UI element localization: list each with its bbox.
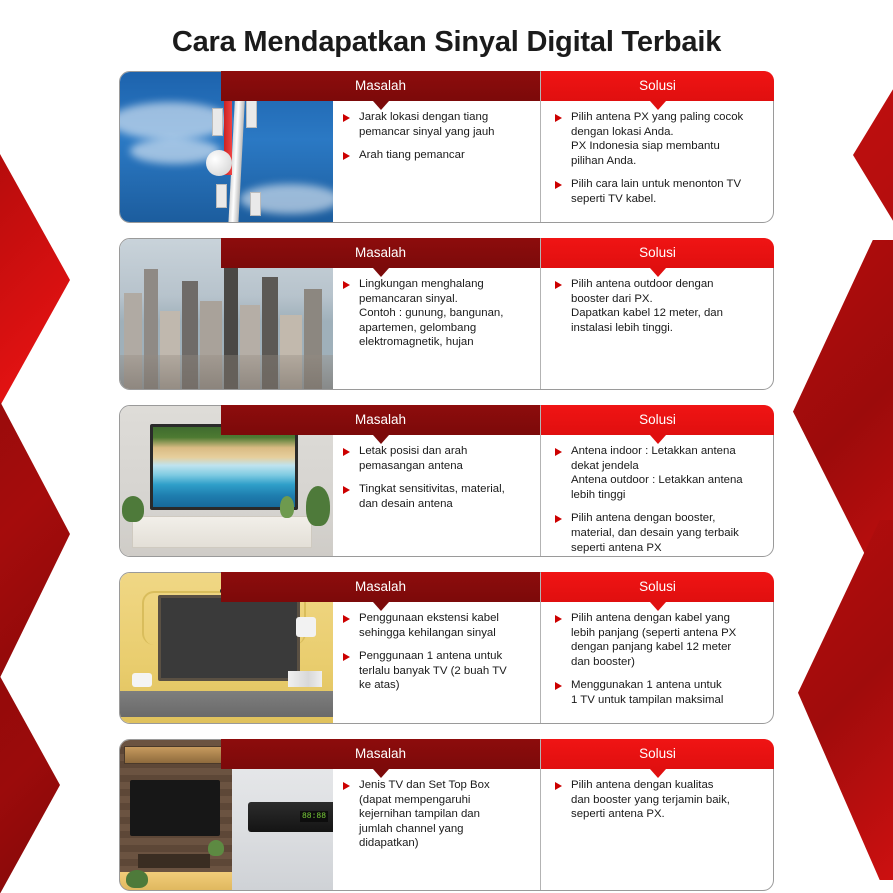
solution-column-1: Solusi Pilih antena PX yang paling cocok… bbox=[540, 72, 773, 222]
list-item: Pilih cara lain untuk menonton TV sepert… bbox=[555, 177, 763, 206]
chevron-right-2 bbox=[798, 520, 893, 880]
chevron-right-1 bbox=[793, 240, 893, 570]
problem-column-1: Masalah Jarak lokasi dengan tiang pemanc… bbox=[333, 72, 540, 222]
list-item: Jenis TV dan Set Top Box (dapat mempenga… bbox=[343, 778, 532, 851]
chevron-left-1 bbox=[0, 150, 70, 410]
problem-column-4: Masalah Penggunaan ekstensi kabel sehing… bbox=[333, 573, 540, 723]
problem-column-2: Masalah Lingkungan menghalang pemancaran… bbox=[333, 239, 540, 389]
solution-column-2: Solusi Pilih antena outdoor dengan boost… bbox=[540, 239, 773, 389]
info-card-row-1: Masalah Jarak lokasi dengan tiang pemanc… bbox=[119, 71, 774, 223]
list-item: Lingkungan menghalang pemancaran sinyal.… bbox=[343, 277, 532, 350]
problem-column-3: Masalah Letak posisi dan arah pemasangan… bbox=[333, 406, 540, 556]
solution-header-4: Solusi bbox=[541, 572, 774, 602]
list-item: Antena indoor : Letakkan antena dekat je… bbox=[555, 444, 763, 502]
info-card-row-4: Masalah Penggunaan ekstensi kabel sehing… bbox=[119, 572, 774, 724]
info-card-row-3: Masalah Letak posisi dan arah pemasangan… bbox=[119, 405, 774, 557]
problem-header-2: Masalah bbox=[221, 238, 540, 268]
stb-led-display: 88:88 bbox=[300, 811, 328, 822]
solution-header-2: Solusi bbox=[541, 238, 774, 268]
list-item: Arah tiang pemancar bbox=[343, 148, 532, 163]
info-card-row-2: Masalah Lingkungan menghalang pemancaran… bbox=[119, 238, 774, 390]
problem-header-1: Masalah bbox=[221, 71, 540, 101]
chevron-left-3 bbox=[0, 640, 60, 893]
solution-column-3: Solusi Antena indoor : Letakkan antena d… bbox=[540, 406, 773, 556]
chevron-left-2 bbox=[0, 390, 70, 690]
list-item: Pilih antena dengan booster, material, d… bbox=[555, 511, 763, 555]
solution-header-1: Solusi bbox=[541, 71, 774, 101]
solution-header-5: Solusi bbox=[541, 739, 774, 769]
list-item: Pilih antena dengan kabel yang lebih pan… bbox=[555, 611, 763, 669]
list-item: Penggunaan 1 antena untuk terlalu banyak… bbox=[343, 649, 532, 693]
list-item: Pilih antena PX yang paling cocok dengan… bbox=[555, 110, 763, 168]
problem-header-5: Masalah bbox=[221, 739, 540, 769]
solution-column-5: Solusi Pilih antena dengan kualitas dan … bbox=[540, 740, 773, 890]
problem-header-4: Masalah bbox=[221, 572, 540, 602]
list-item: Letak posisi dan arah pemasangan antena bbox=[343, 444, 532, 473]
info-card-row-5: 88:88 Masalah Jenis TV dan Set Top Box (… bbox=[119, 739, 774, 891]
list-item: Tingkat sensitivitas, material, dan desa… bbox=[343, 482, 532, 511]
solution-column-4: Solusi Pilih antena dengan kabel yang le… bbox=[540, 573, 773, 723]
card-list: Masalah Jarak lokasi dengan tiang pemanc… bbox=[119, 65, 774, 891]
list-item: Pilih antena dengan kualitas dan booster… bbox=[555, 778, 763, 822]
page-title: Cara Mendapatkan Sinyal Digital Terbaik bbox=[0, 0, 893, 65]
list-item: Menggunakan 1 antena untuk 1 TV untuk ta… bbox=[555, 678, 763, 707]
list-item: Pilih antena outdoor dengan booster dari… bbox=[555, 277, 763, 335]
list-item: Jarak lokasi dengan tiang pemancar sinya… bbox=[343, 110, 532, 139]
problem-header-3: Masalah bbox=[221, 405, 540, 435]
solution-header-3: Solusi bbox=[541, 405, 774, 435]
problem-column-5: Masalah Jenis TV dan Set Top Box (dapat … bbox=[333, 740, 540, 890]
list-item: Penggunaan ekstensi kabel sehingga kehil… bbox=[343, 611, 532, 640]
